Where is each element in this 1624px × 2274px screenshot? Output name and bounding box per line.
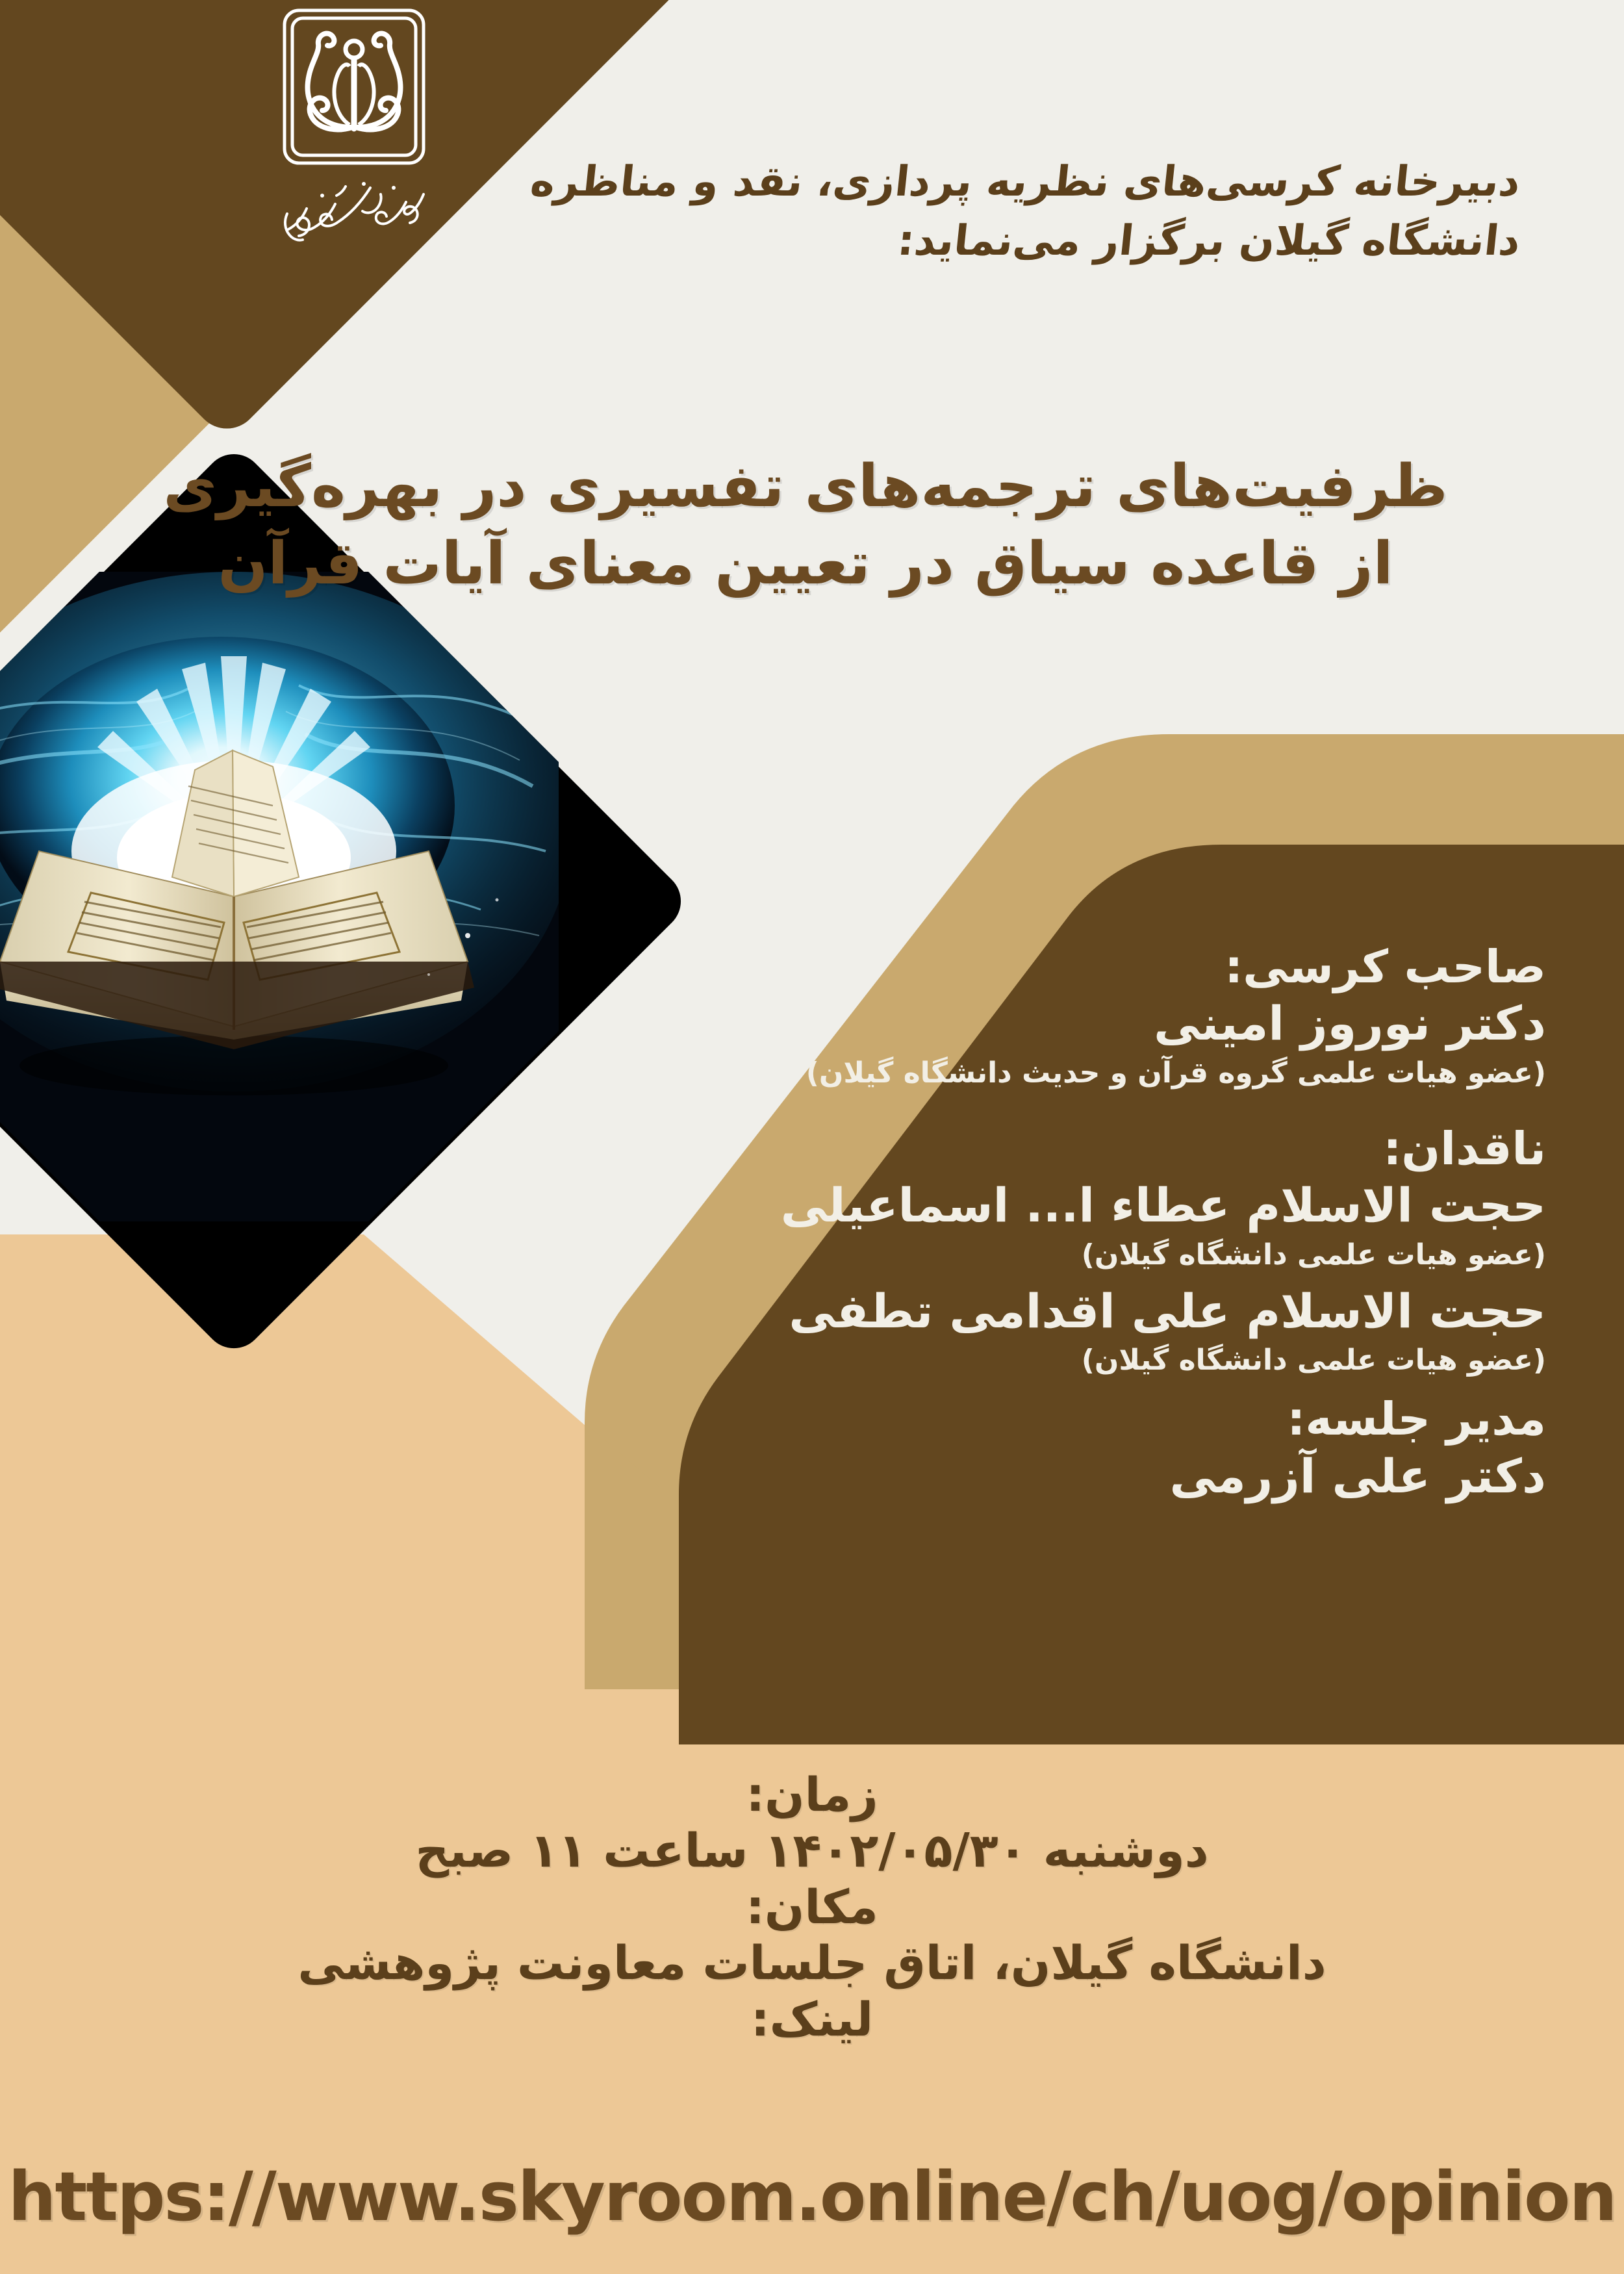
header-line-1: دبیرخانه کرسی‌های نظریه پردازی، نقد و من… <box>451 153 1523 212</box>
moderator-label: مدیر جلسه: <box>676 1392 1546 1447</box>
moderator-name: دکتر علی آزرمی <box>676 1448 1546 1505</box>
university-of-gilan-emblem-icon <box>279 6 429 172</box>
place-value: دانشگاه گیلان، اتاق جلسات معاونت پژوهشی <box>0 1935 1624 1992</box>
chair-name: دکتر نوروز امینی <box>676 995 1546 1053</box>
university-wordmark <box>273 168 435 246</box>
critics-label: ناقدان: <box>676 1121 1546 1177</box>
meeting-link[interactable]: https://www.skyroom.online/ch/uog/opinio… <box>0 2157 1624 2236</box>
time-label: زمان: <box>0 1767 1624 1822</box>
header-text: دبیرخانه کرسی‌های نظریه پردازی، نقد و من… <box>455 153 1520 271</box>
critic-1-name: حجت الاسلام عطاء ا... اسماعیلی <box>676 1177 1546 1234</box>
chair-affiliation: (عضو هیات علمی گروه قرآن و حدیث دانشگاه … <box>676 1054 1546 1092</box>
place-label: مکان: <box>0 1880 1624 1935</box>
title-line-2: از قاعده سیاق در تعیین معنای آیات قرآن <box>58 526 1553 603</box>
poster-canvas: دبیرخانه کرسی‌های نظریه پردازی، نقد و من… <box>0 0 1624 2274</box>
chair-label: صاحب کرسی: <box>676 939 1546 995</box>
time-value: دوشنبه ۱۴۰۲/۰۵/۳۰ ساعت ۱۱ صبح <box>0 1822 1624 1880</box>
critic-2-name: حجت الاسلام علی اقدامی تطفی <box>676 1283 1546 1340</box>
header-line-2: دانشگاه گیلان برگزار می‌نماید: <box>451 212 1523 271</box>
speakers-panel: صاحب کرسی: دکتر نوروز امینی (عضو هیات عل… <box>676 936 1546 1505</box>
link-label: لینک: <box>0 1992 1624 2047</box>
page-title: ظرفیت‌های ترجمه‌های تفسیری در بهره‌گیری … <box>58 448 1553 603</box>
critic-2-affiliation: (عضو هیات علمی دانشگاه گیلان) <box>676 1342 1546 1379</box>
title-line-1: ظرفیت‌های ترجمه‌های تفسیری در بهره‌گیری <box>58 448 1553 526</box>
schedule-block: زمان: دوشنبه ۱۴۰۲/۰۵/۳۰ ساعت ۱۱ صبح مکان… <box>0 1767 1624 2047</box>
critic-1-affiliation: (عضو هیات علمی دانشگاه گیلان) <box>676 1236 1546 1273</box>
university-logo <box>257 6 451 266</box>
